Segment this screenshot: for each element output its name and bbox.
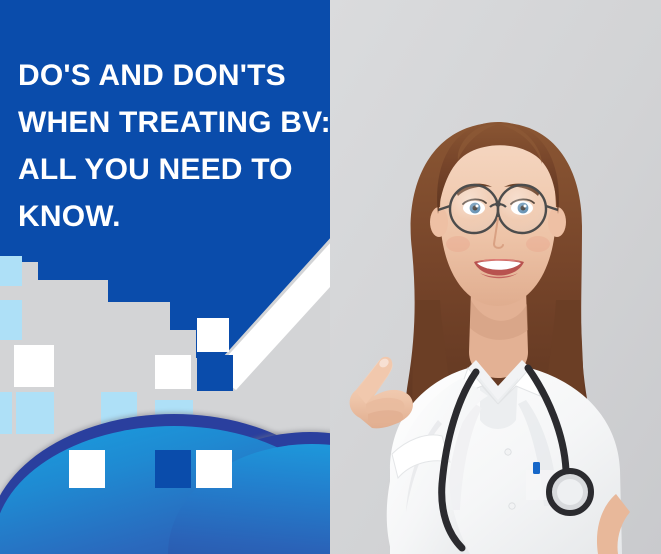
decor-square-blue-1 xyxy=(197,355,233,391)
decor-square-lblue-1 xyxy=(0,256,22,286)
decor-square-white-1 xyxy=(14,345,54,387)
headline-line-3: ALL YOU NEED TO xyxy=(18,146,438,193)
headline-line-4: KNOW. xyxy=(18,193,438,240)
headline-line-2: WHEN TREATING BV: xyxy=(18,99,438,146)
decor-square-white-6 xyxy=(196,450,232,488)
headline: DO'S AND DON'TS WHEN TREATING BV: ALL YO… xyxy=(18,52,438,240)
decor-square-lblue-2 xyxy=(0,300,22,340)
decor-square-white-2 xyxy=(197,318,229,352)
decor-square-white-3 xyxy=(155,355,191,389)
decor-square-lblue-3 xyxy=(0,392,12,434)
headline-line-1: DO'S AND DON'TS xyxy=(18,52,438,99)
decor-square-lblue-4 xyxy=(16,392,54,434)
pocket-pen xyxy=(533,462,540,474)
decor-square-white-4 xyxy=(110,425,148,459)
decor-square-lblue-5 xyxy=(101,392,137,428)
decor-square-lblue-6 xyxy=(155,400,193,438)
promotional-banner: DO'S AND DON'TS WHEN TREATING BV: ALL YO… xyxy=(0,0,661,554)
decor-square-blue-2 xyxy=(155,450,191,488)
decor-square-white-5 xyxy=(69,450,105,488)
